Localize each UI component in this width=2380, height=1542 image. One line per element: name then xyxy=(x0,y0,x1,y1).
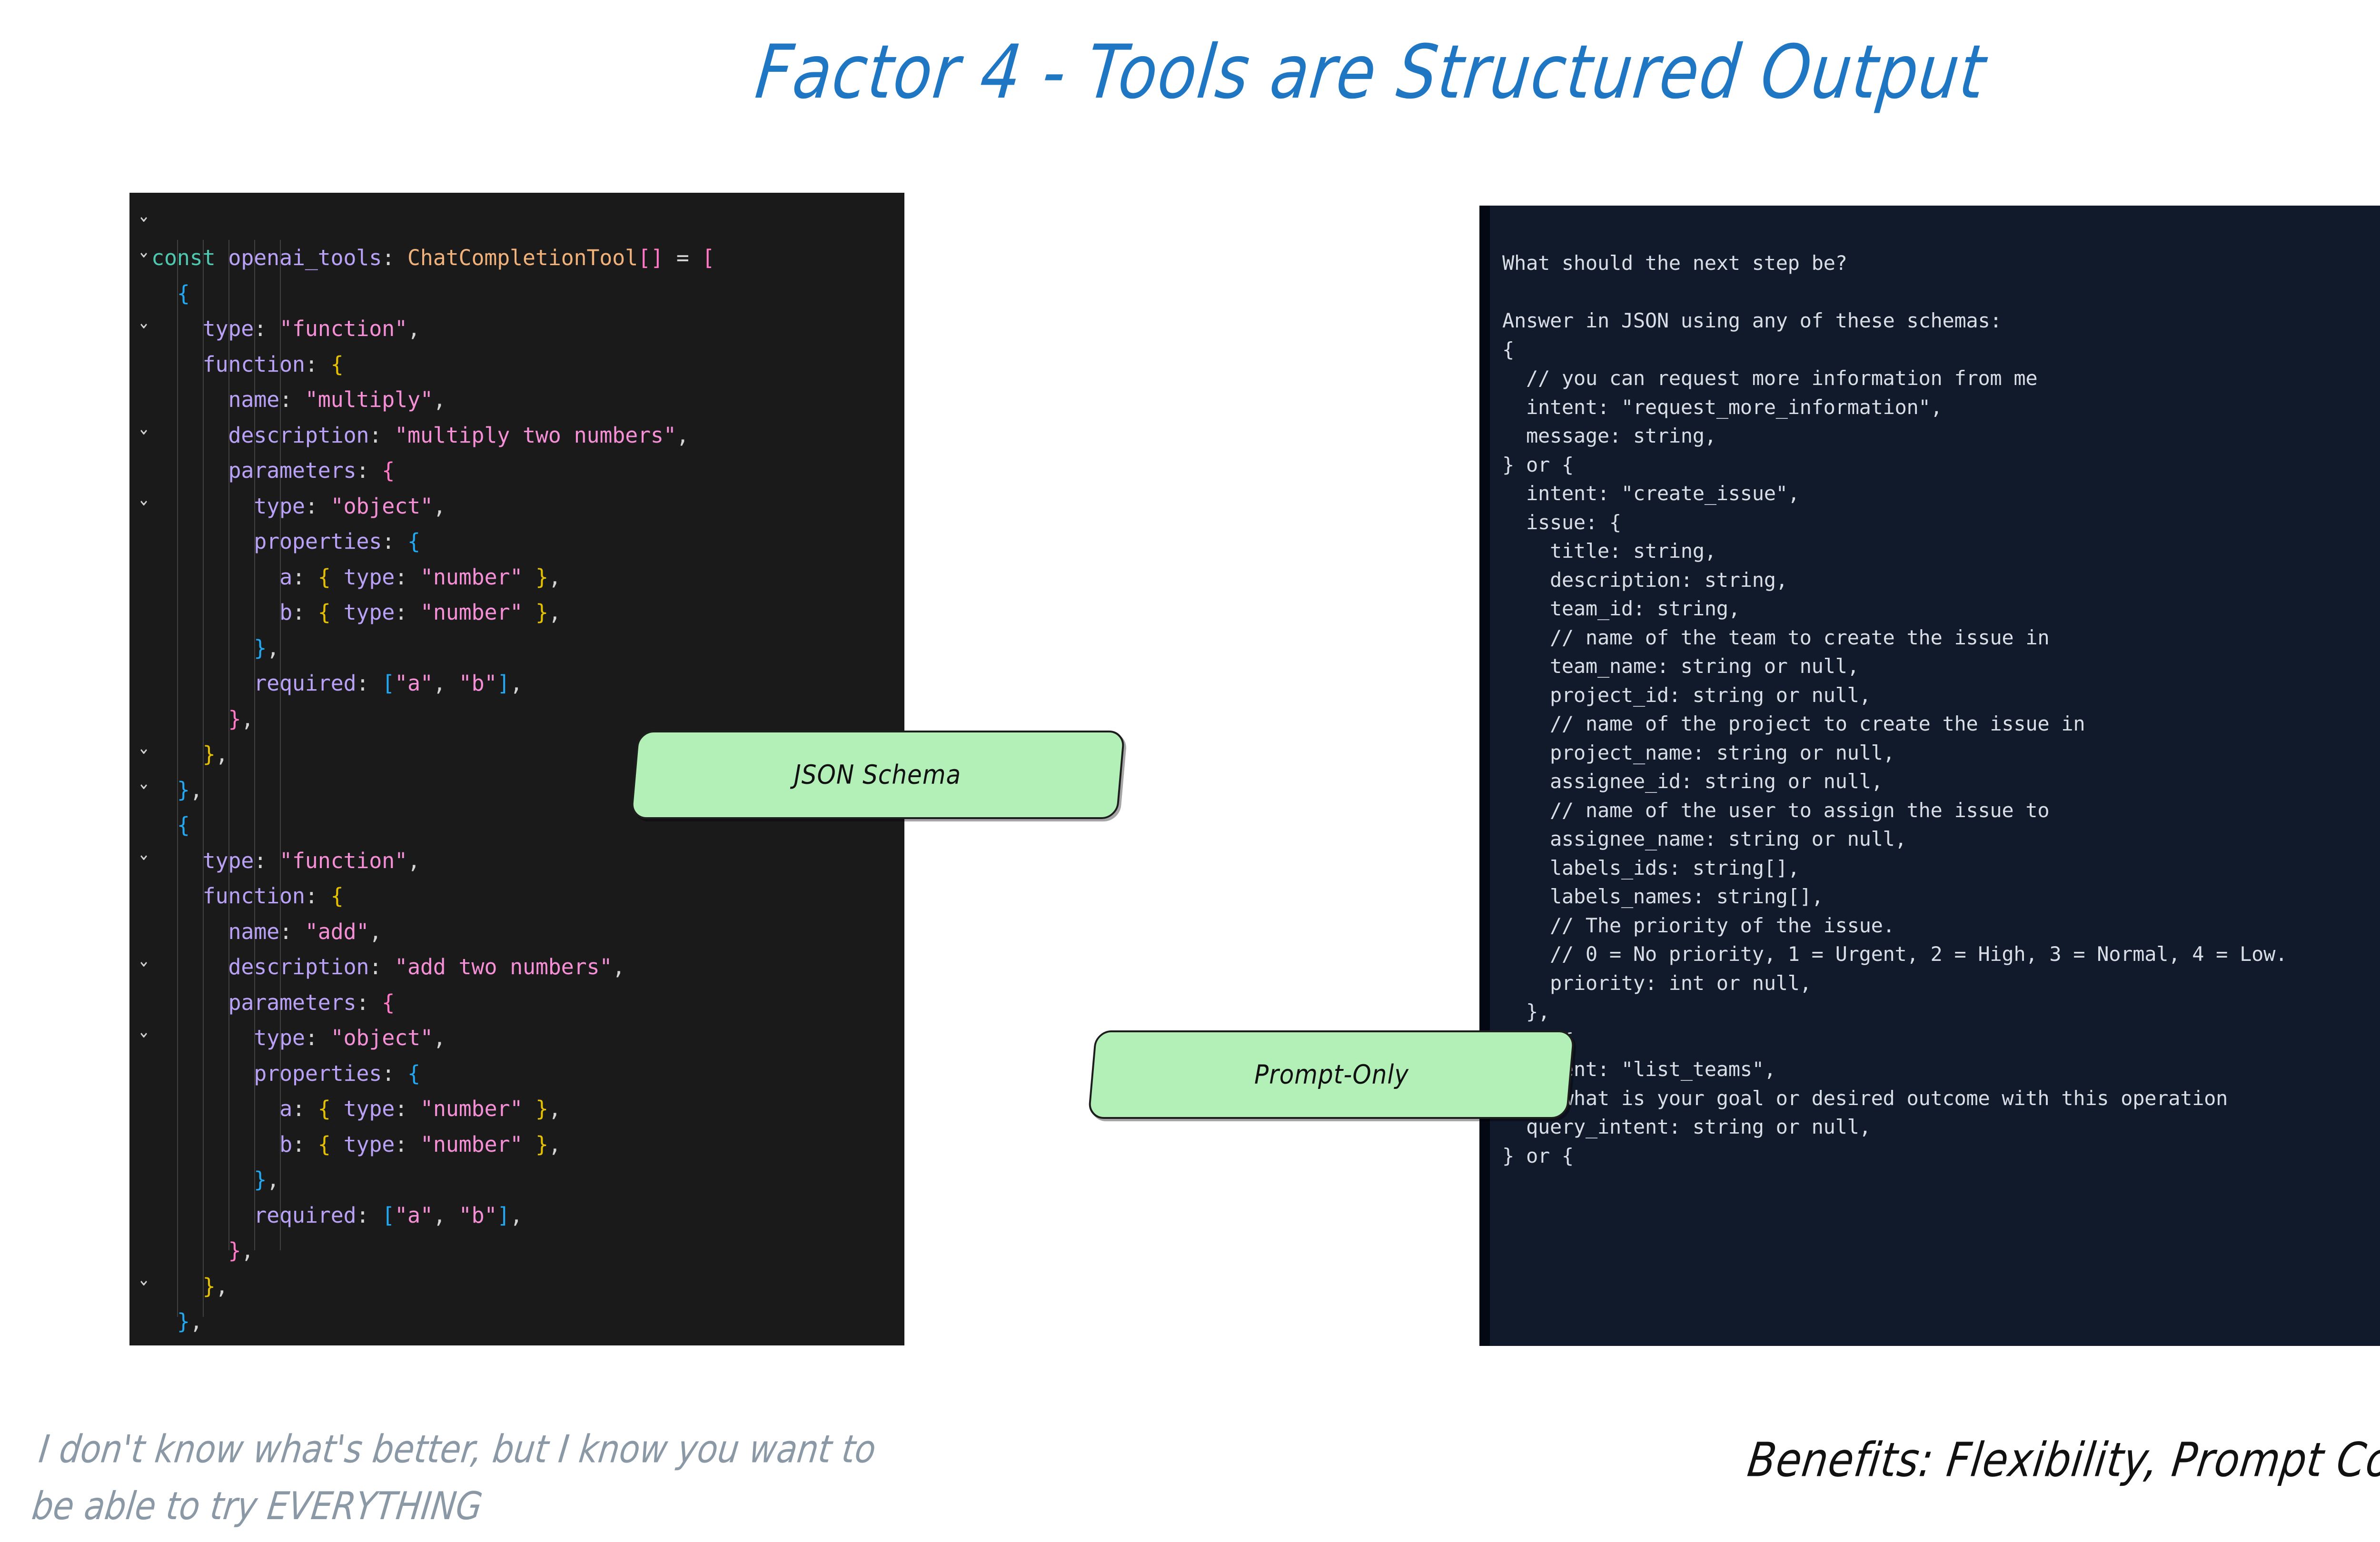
code-line: type: "object", xyxy=(151,489,904,524)
right-code-lines: What should the next step be? Answer in … xyxy=(1479,233,2380,1170)
code-line: parameters: { xyxy=(151,453,904,489)
code-line: // The priority of the issue. xyxy=(1502,911,2380,940)
code-line: intent: "list_teams", xyxy=(1502,1055,2380,1084)
code-line: const openai_tools: ChatCompletionTool[]… xyxy=(151,240,904,276)
code-line: } or { xyxy=(1502,1027,2380,1056)
code-line: description: "add two numbers", xyxy=(151,949,904,985)
code-line: // you can request more information from… xyxy=(1502,364,2380,393)
code-line: query_intent: string or null, xyxy=(1502,1113,2380,1142)
code-line: // name of the team to create the issue … xyxy=(1502,623,2380,652)
note-right: Benefits: Flexibility, Prompt Control xyxy=(1744,1430,2380,1491)
code-line: type: "object", xyxy=(151,1020,904,1056)
code-line: priority: int or null, xyxy=(1502,969,2380,998)
code-line: description: "multiply two numbers", xyxy=(151,418,904,454)
code-line: properties: { xyxy=(151,1056,904,1092)
code-line: Answer in JSON using any of these schema… xyxy=(1502,306,2380,336)
code-line: b: { type: "number" }, xyxy=(151,1127,904,1163)
code-line: description: string, xyxy=(1502,566,2380,595)
code-line: }, xyxy=(151,1162,904,1198)
code-line: assignee_id: string or null, xyxy=(1502,767,2380,796)
code-line: a: { type: "number" }, xyxy=(151,560,904,595)
code-line: labels_names: string[], xyxy=(1502,882,2380,911)
code-line: { xyxy=(1502,336,2380,365)
code-line: team_name: string or null, xyxy=(1502,652,2380,681)
code-line: }, xyxy=(151,1304,904,1340)
code-line: name: "multiply", xyxy=(151,382,904,418)
code-line: type: "function", xyxy=(151,311,904,347)
code-line: function: { xyxy=(151,347,904,383)
code-line: project_id: string or null, xyxy=(1502,681,2380,710)
note-left: I don't know what's better, but I know y… xyxy=(29,1421,1090,1534)
code-line: title: string, xyxy=(1502,537,2380,566)
code-line: // name of the user to assign the issue … xyxy=(1502,796,2380,825)
code-line: } or { xyxy=(1502,1142,2380,1171)
code-line: issue: { xyxy=(1502,508,2380,537)
code-line: a: { type: "number" }, xyxy=(151,1091,904,1127)
code-line: parameters: { xyxy=(151,985,904,1021)
code-line: } or { xyxy=(1502,451,2380,480)
code-line: intent: "request_more_information", xyxy=(1502,393,2380,422)
prompt-only-code-block: What should the next step be? Answer in … xyxy=(1479,206,2380,1346)
page-title: Factor 4 - Tools are Structured Output xyxy=(0,29,2380,116)
slide-canvas: Factor 4 - Tools are Structured Output ⌄… xyxy=(0,0,2380,1542)
code-line: type: "function", xyxy=(151,843,904,879)
code-line: // what is your goal or desired outcome … xyxy=(1502,1084,2380,1113)
callout-prompt-only[interactable]: Prompt-Only xyxy=(1088,1030,1575,1119)
code-line xyxy=(1502,278,2380,307)
code-line: }, xyxy=(1502,998,2380,1027)
code-line: assignee_name: string or null, xyxy=(1502,825,2380,854)
code-line: project_name: string or null, xyxy=(1502,739,2380,768)
callout-json-schema-label: JSON Schema xyxy=(794,760,961,790)
code-line: // name of the project to create the iss… xyxy=(1502,710,2380,739)
code-line: ]; xyxy=(151,1340,904,1346)
code-line: }, xyxy=(151,1269,904,1305)
code-line: b: { type: "number" }, xyxy=(151,595,904,631)
code-line: properties: { xyxy=(151,524,904,560)
code-line: labels_ids: string[], xyxy=(1502,854,2380,883)
callout-prompt-only-label: Prompt-Only xyxy=(1254,1059,1409,1090)
callout-json-schema[interactable]: JSON Schema xyxy=(630,731,1125,819)
code-line: }, xyxy=(151,1233,904,1269)
code-line: }, xyxy=(151,631,904,666)
code-line: required: ["a", "b"], xyxy=(151,1198,904,1234)
code-line: function: { xyxy=(151,879,904,914)
code-line: What should the next step be? xyxy=(1502,249,2380,278)
code-line: { xyxy=(151,276,904,312)
code-line: team_id: string, xyxy=(1502,594,2380,623)
code-line: intent: "create_issue", xyxy=(1502,479,2380,508)
code-line: // 0 = No priority, 1 = Urgent, 2 = High… xyxy=(1502,940,2380,969)
code-line: required: ["a", "b"], xyxy=(151,666,904,702)
code-line: message: string, xyxy=(1502,422,2380,451)
code-line: name: "add", xyxy=(151,914,904,950)
